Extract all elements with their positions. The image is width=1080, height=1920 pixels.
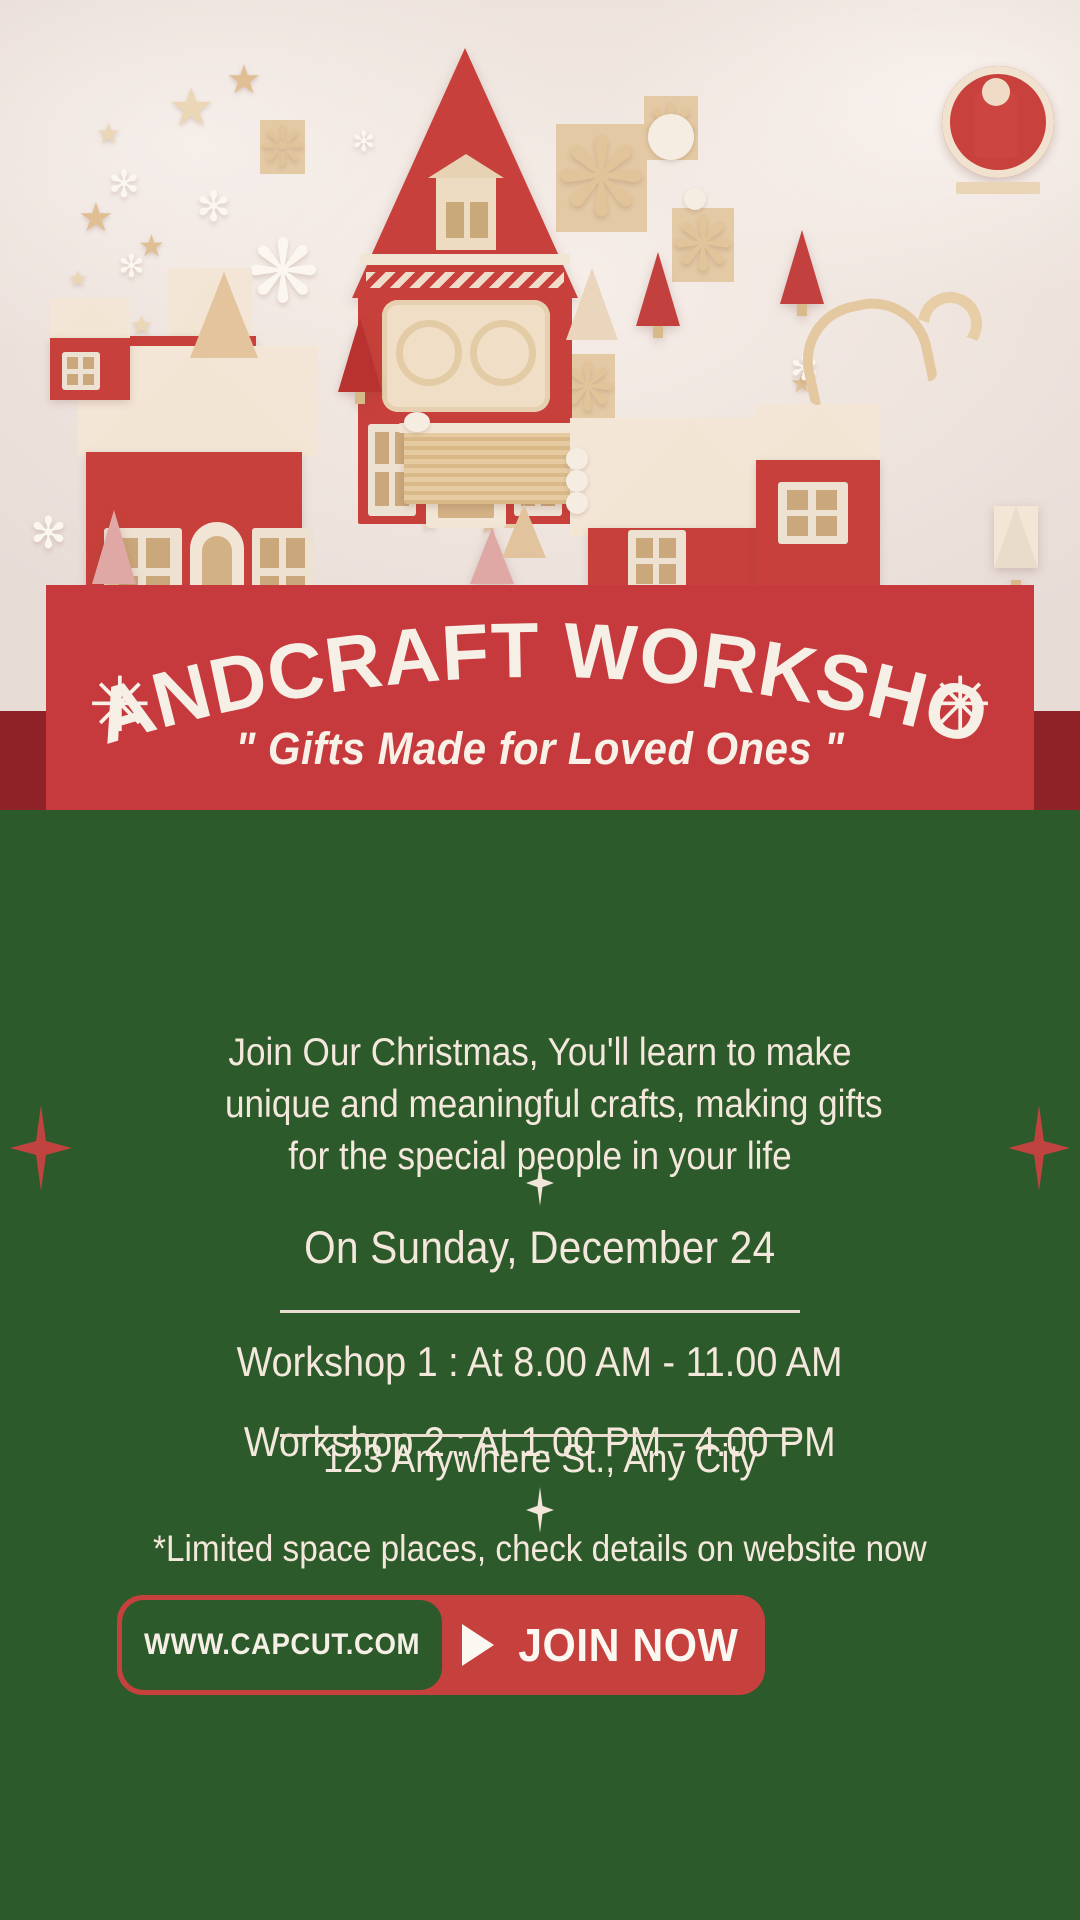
wood-star-icon: ★ [96, 120, 121, 148]
workshop-1-text: Workshop 1 : At 8.00 AM - 11.00 AM [237, 1338, 843, 1386]
window [628, 530, 686, 592]
disclaimer-note: *Limited space places, check details on … [0, 1528, 1080, 1570]
venue-address-text: 123 Anywhere St., Any City [323, 1437, 757, 1482]
spiral-cone [190, 272, 258, 358]
spiral-cone [502, 504, 546, 558]
venue-address: 123 Anywhere St., Any City [0, 1437, 1080, 1482]
poster-subtitle: " Gifts Made for Loved Ones " [81, 723, 1000, 775]
join-now-button[interactable]: JOIN NOW [462, 1595, 747, 1695]
play-triangle-icon [462, 1624, 494, 1666]
round-ornament [942, 66, 1054, 178]
wood-star-icon: ★ [168, 82, 215, 134]
small-house-roof [50, 298, 130, 340]
roof-ledge [360, 254, 570, 265]
event-date-text: On Sunday, December 24 [304, 1222, 775, 1274]
disclaimer-note-text: *Limited space places, check details on … [153, 1528, 927, 1570]
cream-cone [566, 268, 618, 340]
ribbon-front-panel: ✳ ✳ HANDCRAFT WORKSHOP " Gifts Made for … [46, 585, 1034, 813]
dormer-window [436, 176, 496, 250]
snowflake-icon: ✻ [118, 250, 145, 282]
bottle-brush-tree [780, 230, 824, 304]
bottle-brush-tree [636, 252, 680, 326]
website-url-chip[interactable]: WWW.CAPCUT.COM [122, 1600, 442, 1690]
wood-star-icon: ★ [226, 60, 262, 100]
snowflake-icon: ❊ [260, 120, 305, 174]
snow-ball [566, 448, 588, 470]
poster-canvas: ★ ★ ★ ★ ★ ★ ★ ★ ★ ★ ★ ✻ ✻ ✻ ❋ ✻ ❋ ❋ ❋ ❋ … [0, 0, 1080, 1920]
far-right-house-roof [756, 404, 880, 462]
ornament-shelf [956, 182, 1040, 194]
snow-ball [566, 470, 588, 492]
swirl-motif [470, 320, 536, 386]
wood-star-icon: ★ [68, 268, 88, 290]
snowflake-icon: ✻ [30, 512, 67, 556]
window [778, 482, 848, 544]
window-pane [446, 202, 464, 238]
workshop-1-row: Workshop 1 : At 8.00 AM - 11.00 AM [0, 1338, 1080, 1386]
swirl-motif [396, 320, 462, 386]
carved-medallion [382, 300, 550, 412]
description-text: Join Our Christmas, You'll learn to make… [190, 1027, 890, 1183]
ornament-figure [974, 84, 1018, 158]
description-line-2: unique and meaningful crafts, making gif… [225, 1079, 855, 1131]
snowflake-icon: ❋ [672, 208, 734, 282]
description-line-1: Join Our Christmas, You'll learn to make [225, 1027, 855, 1079]
bottle-brush-tree [994, 506, 1038, 568]
window-pane [470, 202, 488, 238]
website-url-text: WWW.CAPCUT.COM [144, 1628, 420, 1662]
window [62, 352, 100, 390]
divider-line [280, 1310, 800, 1313]
wood-star-icon: ★ [130, 312, 153, 338]
snow-ball [684, 188, 706, 210]
snowflake-icon: ✻ [108, 166, 140, 204]
join-now-label: JOIN NOW [510, 1618, 747, 1672]
zigzag-trim [366, 272, 564, 288]
event-date: On Sunday, December 24 [0, 1222, 1080, 1274]
snow-ball [648, 114, 694, 160]
snow-ball [404, 412, 430, 432]
cta-bar[interactable]: WWW.CAPCUT.COM JOIN NOW [117, 1595, 765, 1695]
bottle-brush-tree [92, 510, 136, 584]
snowflake-icon: ✻ [196, 186, 231, 228]
snow-ball [566, 492, 588, 514]
